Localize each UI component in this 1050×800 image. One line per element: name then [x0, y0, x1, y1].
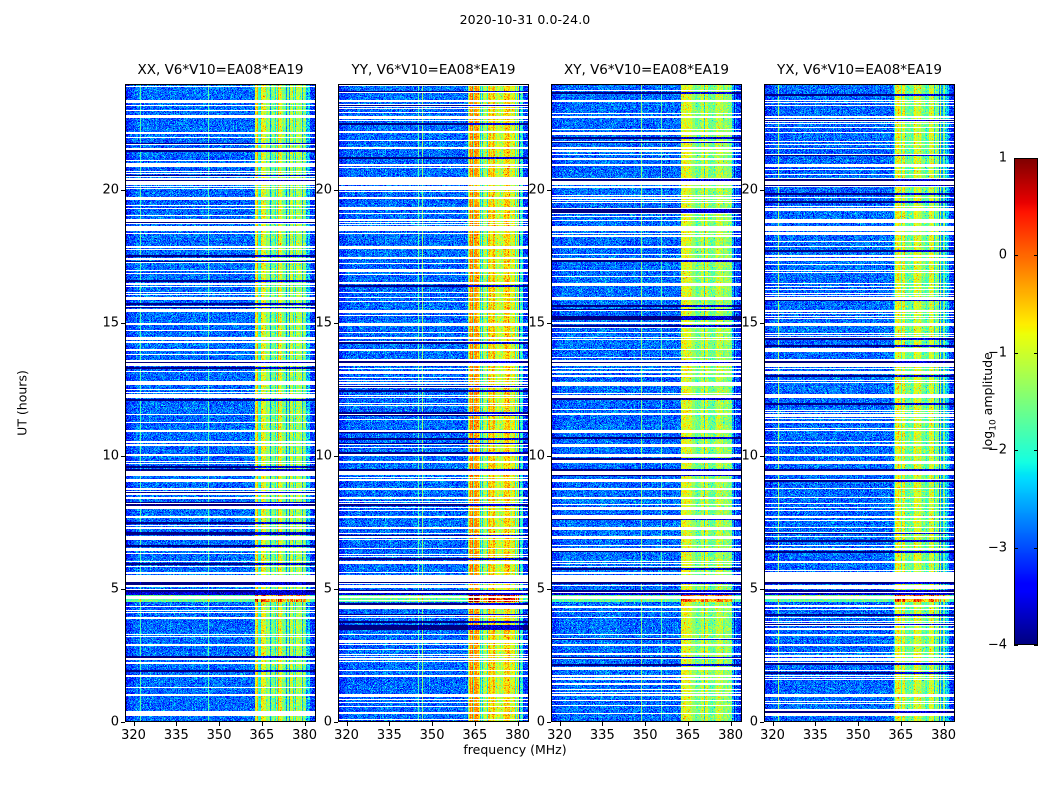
- colorbar-tick-label: 0: [999, 248, 1007, 263]
- x-tick-label: 320: [547, 728, 572, 743]
- y-tick-label: 10: [315, 449, 332, 464]
- y-tick: [121, 323, 125, 324]
- y-tick: [760, 722, 764, 723]
- x-tick: [432, 722, 433, 726]
- colorbar-tick-label: 1: [999, 151, 1007, 166]
- y-tick: [547, 456, 551, 457]
- y-axis-label: UT (hours): [15, 370, 30, 436]
- y-tick: [334, 456, 338, 457]
- x-tick-label: 380: [718, 728, 743, 743]
- x-tick-label: 350: [207, 728, 232, 743]
- y-tick: [547, 190, 551, 191]
- y-tick-label: 0: [111, 715, 119, 730]
- x-tick-label: 365: [462, 728, 487, 743]
- panel-title-yy: YY, V6*V10=EA08*EA19: [351, 62, 515, 78]
- colorbar-tick: [1014, 548, 1018, 549]
- y-tick: [760, 589, 764, 590]
- x-tick-label: 320: [334, 728, 359, 743]
- panel-title-xx: XX, V6*V10=EA08*EA19: [137, 62, 303, 78]
- y-tick-label: 20: [528, 183, 545, 198]
- x-tick: [262, 722, 263, 726]
- y-tick: [121, 190, 125, 191]
- x-tick: [134, 722, 135, 726]
- y-tick-label: 10: [102, 449, 119, 464]
- x-tick-label: 350: [633, 728, 658, 743]
- x-tick: [858, 722, 859, 726]
- x-tick: [305, 722, 306, 726]
- x-tick-label: 335: [803, 728, 828, 743]
- x-tick: [731, 722, 732, 726]
- y-tick-label: 5: [537, 582, 545, 597]
- x-tick-label: 350: [420, 728, 445, 743]
- y-tick: [547, 323, 551, 324]
- y-tick: [547, 722, 551, 723]
- colorbar-gradient: [1014, 158, 1038, 645]
- colorbar-label-prefix: log: [980, 431, 995, 450]
- x-tick-label: 320: [760, 728, 785, 743]
- x-tick: [602, 722, 603, 726]
- panel-yy[interactable]: YY, V6*V10=EA08*EA19 3203353503653800510…: [338, 84, 529, 722]
- waterfall-image-yy: [338, 84, 529, 722]
- x-tick: [219, 722, 220, 726]
- panel-xy[interactable]: XY, V6*V10=EA08*EA19 3203353503653800510…: [551, 84, 742, 722]
- y-tick: [334, 589, 338, 590]
- y-tick: [334, 190, 338, 191]
- colorbar-tick: [1034, 255, 1038, 256]
- x-tick: [518, 722, 519, 726]
- colorbar-label: log10 amplitude: [980, 352, 999, 450]
- y-tick: [121, 589, 125, 590]
- panel-title-yx: YX, V6*V10=EA08*EA19: [777, 62, 942, 78]
- colorbar-tick: [1034, 548, 1038, 549]
- x-tick-label: 380: [505, 728, 530, 743]
- colorbar-tick: [1014, 353, 1018, 354]
- x-tick: [176, 722, 177, 726]
- y-tick-label: 5: [324, 582, 332, 597]
- panel-yx[interactable]: YX, V6*V10=EA08*EA19 3203353503653800510…: [764, 84, 955, 722]
- x-tick-label: 335: [590, 728, 615, 743]
- x-tick: [944, 722, 945, 726]
- figure-suptitle: 2020-10-31 0.0-24.0: [0, 12, 1050, 27]
- colorbar-tick: [1014, 158, 1018, 159]
- waterfall-image-xy: [551, 84, 742, 722]
- y-tick-label: 10: [741, 449, 758, 464]
- x-tick-label: 380: [292, 728, 317, 743]
- y-tick-label: 10: [528, 449, 545, 464]
- y-tick-label: 15: [528, 316, 545, 331]
- x-tick-label: 365: [888, 728, 913, 743]
- x-tick: [347, 722, 348, 726]
- y-tick-label: 15: [315, 316, 332, 331]
- y-tick: [121, 456, 125, 457]
- panel-xx[interactable]: XX, V6*V10=EA08*EA19 3203353503653800510…: [125, 84, 316, 722]
- y-tick: [760, 190, 764, 191]
- x-tick: [815, 722, 816, 726]
- y-tick-label: 20: [102, 183, 119, 198]
- colorbar[interactable]: −4−3−2−101: [1014, 158, 1038, 645]
- waterfall-image-yx: [764, 84, 955, 722]
- y-tick-label: 0: [537, 715, 545, 730]
- colorbar-label-suffix: amplitude: [980, 352, 995, 419]
- x-tick: [560, 722, 561, 726]
- x-tick: [475, 722, 476, 726]
- y-tick-label: 20: [741, 183, 758, 198]
- y-tick: [547, 589, 551, 590]
- y-tick-label: 15: [741, 316, 758, 331]
- colorbar-tick: [1034, 450, 1038, 451]
- figure-canvas: 2020-10-31 0.0-24.0 XX, V6*V10=EA08*EA19…: [0, 0, 1050, 800]
- colorbar-tick-label: −4: [988, 638, 1007, 653]
- y-tick-label: 15: [102, 316, 119, 331]
- x-tick: [901, 722, 902, 726]
- y-tick: [760, 323, 764, 324]
- y-tick-label: 5: [750, 582, 758, 597]
- y-tick: [334, 722, 338, 723]
- x-tick: [389, 722, 390, 726]
- x-axis-label-text: frequency (MHz): [463, 742, 566, 757]
- x-tick: [688, 722, 689, 726]
- y-tick: [121, 722, 125, 723]
- colorbar-tick: [1014, 645, 1018, 646]
- x-tick-label: 365: [249, 728, 274, 743]
- colorbar-label-sub: 10: [988, 419, 998, 430]
- y-tick-label: 0: [750, 715, 758, 730]
- x-tick: [645, 722, 646, 726]
- y-tick-label: 0: [324, 715, 332, 730]
- y-tick: [334, 323, 338, 324]
- y-tick-label: 20: [315, 183, 332, 198]
- colorbar-tick: [1014, 450, 1018, 451]
- x-tick: [773, 722, 774, 726]
- x-tick-label: 350: [846, 728, 871, 743]
- colorbar-tick-label: −3: [988, 540, 1007, 555]
- x-tick-label: 335: [377, 728, 402, 743]
- colorbar-tick: [1014, 255, 1018, 256]
- x-axis-label: frequency (MHz): [0, 742, 1050, 757]
- panel-title-xy: XY, V6*V10=EA08*EA19: [564, 62, 729, 78]
- x-tick-label: 335: [164, 728, 189, 743]
- y-tick: [760, 456, 764, 457]
- colorbar-tick: [1034, 645, 1038, 646]
- x-tick-label: 380: [931, 728, 956, 743]
- colorbar-tick: [1034, 158, 1038, 159]
- waterfall-image-xx: [125, 84, 316, 722]
- x-tick-label: 365: [675, 728, 700, 743]
- x-tick-label: 320: [121, 728, 146, 743]
- colorbar-tick: [1034, 353, 1038, 354]
- y-tick-label: 5: [111, 582, 119, 597]
